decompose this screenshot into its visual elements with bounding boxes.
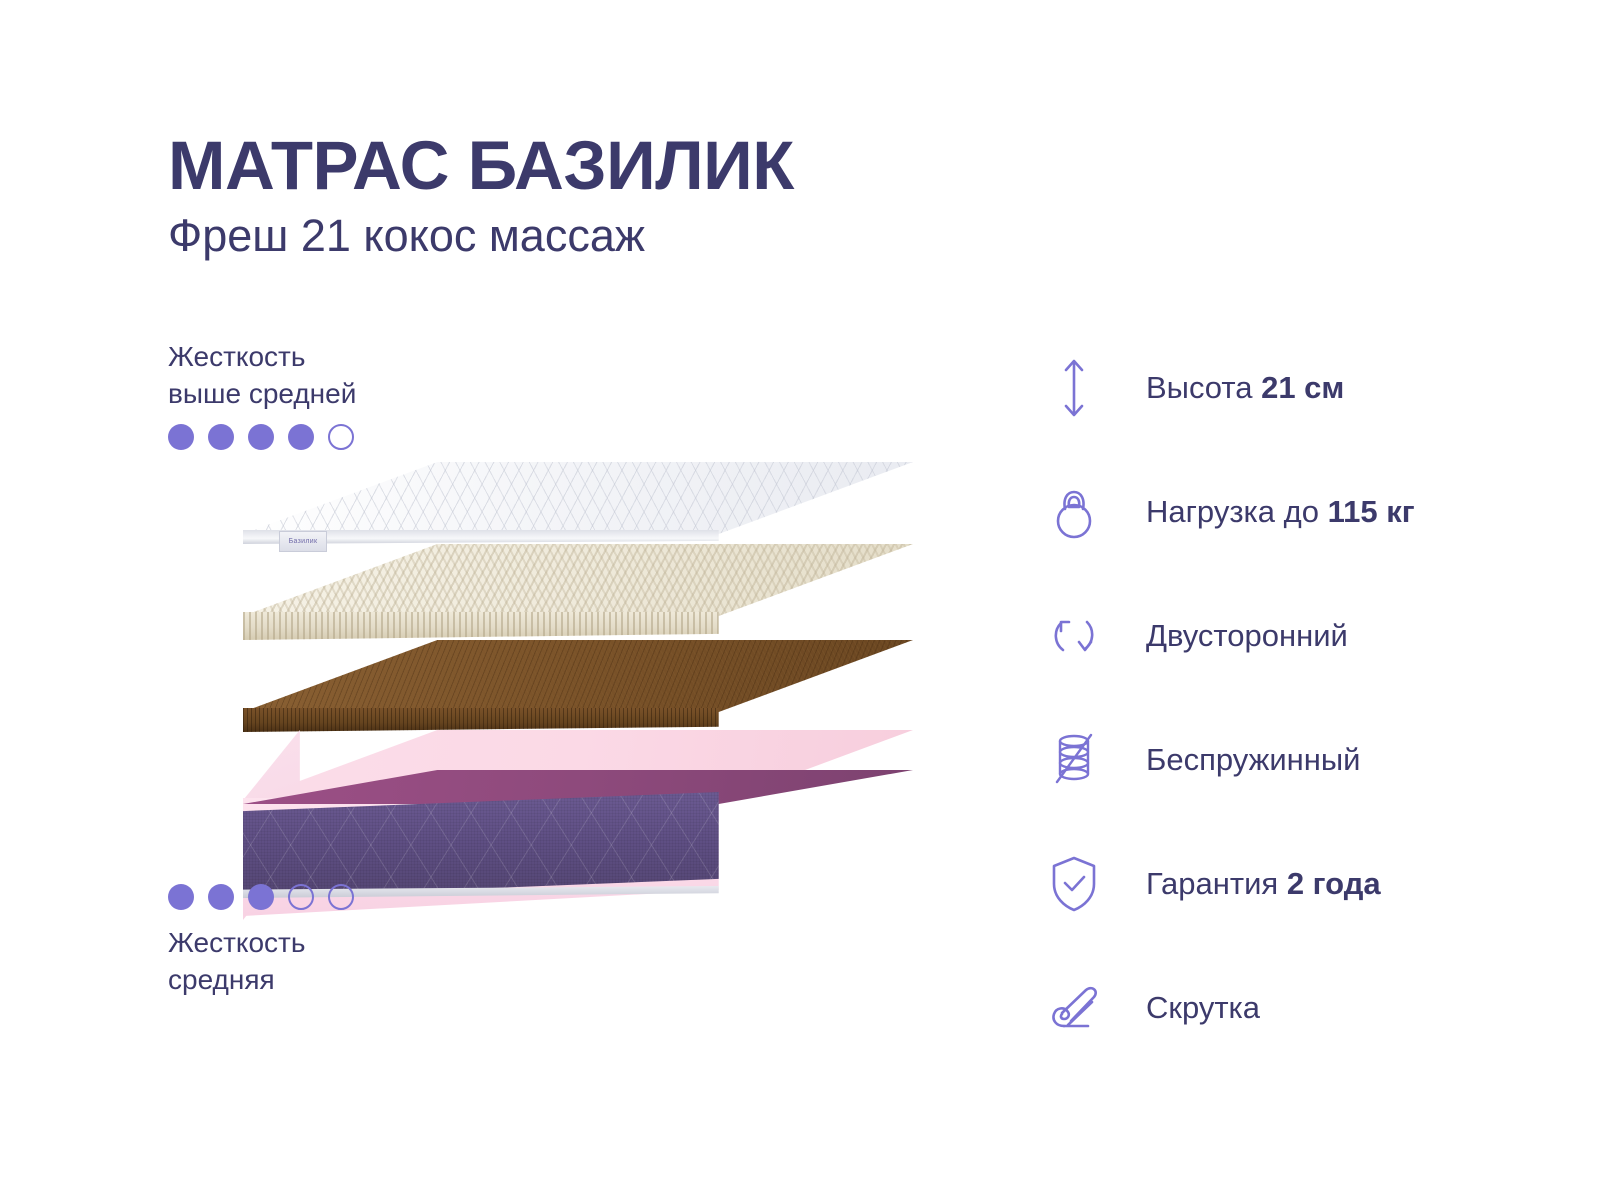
feature-label-warranty: Гарантия 2 года (1146, 865, 1381, 903)
massage-foam-front-edge (243, 612, 913, 640)
firmness-top-label-line1: Жесткость (168, 341, 305, 372)
feature-label-reversible: Двусторонний (1146, 617, 1348, 655)
firmness-dot-filled (168, 884, 194, 910)
feature-row-load: Нагрузка до 115 кг (1036, 450, 1556, 574)
firmness-top-rating (168, 424, 588, 450)
no-spring-icon (1036, 722, 1112, 798)
feature-list: Высота 21 см Нагрузка до 115 кг (1036, 326, 1556, 1070)
firmness-dot-filled (288, 424, 314, 450)
firmness-bottom-label: Жесткость средняя (168, 924, 468, 998)
rotate-arrows-icon (1036, 598, 1112, 674)
feature-row-reversible: Двусторонний (1036, 574, 1556, 698)
page-title: МАТРАС БАЗИЛИК (168, 128, 1068, 204)
firmness-dot-filled (208, 884, 234, 910)
page-subtitle: Фреш 21 кокос массаж (168, 210, 1068, 262)
firmness-top-label-line2: выше средней (168, 378, 356, 409)
firmness-dot-filled (208, 424, 234, 450)
roll-up-icon (1036, 970, 1112, 1046)
feature-row-rollup: Скрутка (1036, 946, 1556, 1070)
layer-cream-massage-foam (243, 544, 913, 652)
coir-front-edge (243, 708, 913, 732)
feature-row-warranty: Гарантия 2 года (1036, 822, 1556, 946)
firmness-dot-empty (328, 424, 354, 450)
firmness-bottom-label-line2: средняя (168, 964, 275, 995)
base-front-quilting (243, 792, 913, 898)
feature-row-springless: Беспружинный (1036, 698, 1556, 822)
coir-top-surface (243, 640, 913, 712)
firmness-bottom-label-line1: Жесткость (168, 927, 305, 958)
cover-front-edge (243, 530, 913, 544)
layer-white-quilted-cover: Базилик (243, 462, 913, 548)
massage-foam-top-surface (243, 544, 913, 616)
firmness-dot-filled (248, 424, 274, 450)
layer-purple-quilted-base (243, 770, 913, 902)
firmness-dot-filled (248, 884, 274, 910)
firmness-dot-empty (328, 884, 354, 910)
kettlebell-icon (1036, 474, 1112, 550)
firmness-top-label: Жесткость выше средней (168, 338, 468, 412)
firmness-bottom-block: Жесткость средняя (168, 884, 588, 998)
feature-label-load: Нагрузка до 115 кг (1146, 493, 1415, 531)
feature-label-height: Высота 21 см (1146, 369, 1344, 407)
mattress-layers-illustration: Базилик (243, 452, 913, 892)
cover-top-surface (243, 462, 913, 534)
firmness-dot-empty (288, 884, 314, 910)
infographic-page: МАТРАС БАЗИЛИК Фреш 21 кокос массаж Жест… (0, 0, 1600, 1200)
firmness-bottom-rating (168, 884, 588, 910)
firmness-dot-filled (168, 424, 194, 450)
feature-row-height: Высота 21 см (1036, 326, 1556, 450)
firmness-top-block: Жесткость выше средней (168, 338, 588, 450)
feature-label-springless: Беспружинный (1146, 741, 1361, 779)
feature-label-rollup: Скрутка (1146, 989, 1260, 1027)
shield-check-icon (1036, 846, 1112, 922)
height-arrow-icon (1036, 350, 1112, 426)
product-title-block: МАТРАС БАЗИЛИК Фреш 21 кокос массаж (168, 128, 1068, 262)
